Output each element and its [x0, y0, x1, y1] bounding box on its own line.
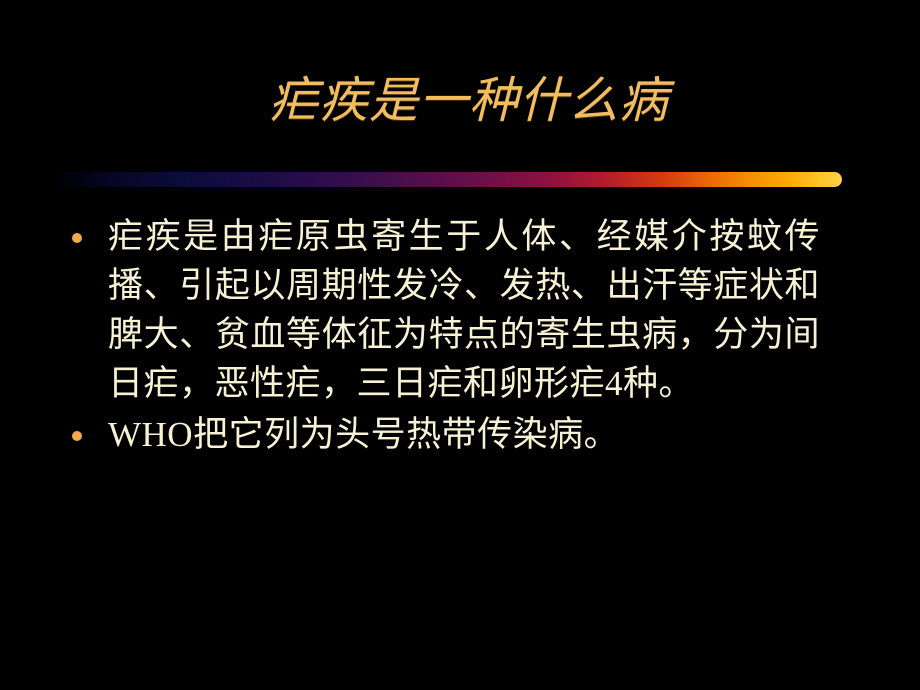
bullet-dot-icon — [72, 233, 82, 243]
body-content: 疟疾是由疟原虫寄生于人体、经媒介按蚊传播、引起以周期性发冷、发热、出汗等症状和脾… — [72, 212, 862, 461]
gradient-divider-bar — [58, 172, 842, 187]
list-item: WHO把它列为头号热带传染病。 — [72, 410, 862, 459]
page-title: 疟疾是一种什么病 — [269, 74, 669, 129]
list-item: 疟疾是由疟原虫寄生于人体、经媒介按蚊传播、引起以周期性发冷、发热、出汗等症状和脾… — [72, 212, 862, 408]
bullet-text: 疟疾是由疟原虫寄生于人体、经媒介按蚊传播、引起以周期性发冷、发热、出汗等症状和脾… — [108, 212, 820, 408]
title-container: 疟疾是一种什么病 — [0, 74, 920, 129]
presentation-slide: 疟疾是一种什么病 疟疾是由疟原虫寄生于人体、经媒介按蚊传播、引起以周期性发冷、发… — [0, 0, 920, 690]
bullet-dot-icon — [72, 431, 82, 441]
bullet-text: WHO把它列为头号热带传染病。 — [108, 410, 820, 459]
